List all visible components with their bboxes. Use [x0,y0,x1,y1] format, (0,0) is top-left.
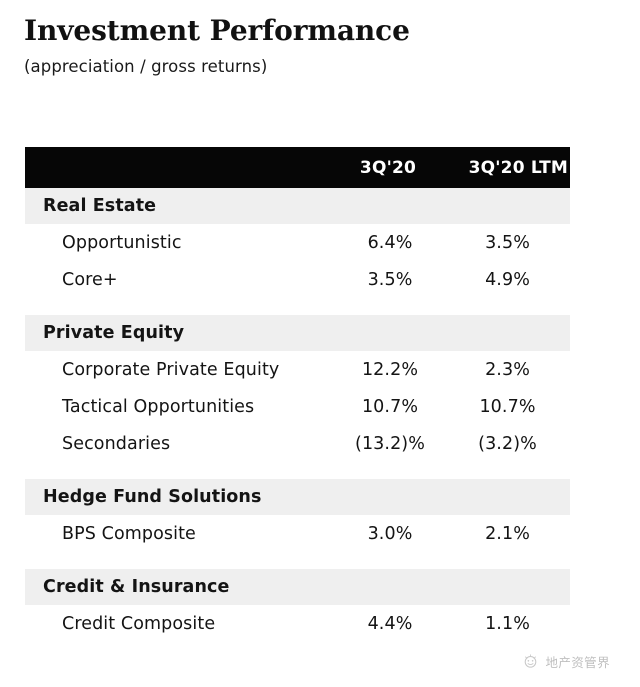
investment-performance-table: 3Q'20 3Q'20 LTM Real Estate Opportunisti… [25,147,570,642]
section-divider [25,462,570,479]
row-value-q: 6.4% [335,233,445,253]
page-subtitle: (appreciation / gross returns) [24,56,584,78]
row-value-q: 3.0% [335,524,445,544]
row-value-ltm: 3.5% [445,233,570,253]
section-header-label: Private Equity [25,323,184,343]
section-header-label: Real Estate [25,196,156,216]
table-row: BPS Composite 3.0% 2.1% [25,515,570,552]
table-row: Opportunistic 6.4% 3.5% [25,224,570,261]
section-divider [25,298,570,315]
section-header: Credit & Insurance [25,569,570,605]
watermark-logo-icon [522,653,539,670]
table-section-real-estate: Real Estate Opportunistic 6.4% 3.5% Core… [25,188,570,298]
row-value-ltm: 2.3% [445,360,570,380]
row-value-ltm: 10.7% [445,397,570,417]
table-row: Credit Composite 4.4% 1.1% [25,605,570,642]
watermark: 地产资管界 [522,652,610,671]
section-header: Private Equity [25,315,570,351]
row-value-q: 10.7% [335,397,445,417]
section-divider [25,552,570,569]
page-title: Investment Performance [24,14,584,48]
row-label: Opportunistic [25,233,335,253]
table-row: Secondaries (13.2)% (3.2)% [25,425,570,462]
section-header: Hedge Fund Solutions [25,479,570,515]
row-label: Credit Composite [25,614,335,634]
heading-block: Investment Performance (appreciation / g… [24,14,584,78]
table-row: Tactical Opportunities 10.7% 10.7% [25,388,570,425]
row-label: Tactical Opportunities [25,397,335,417]
row-value-ltm: (3.2)% [445,434,570,454]
watermark-label: 地产资管界 [545,652,610,671]
row-value-q: 3.5% [335,270,445,290]
table-row: Corporate Private Equity 12.2% 2.3% [25,351,570,388]
table-header-row: 3Q'20 3Q'20 LTM [25,147,570,188]
section-header: Real Estate [25,188,570,224]
table-section-hedge-fund-solutions: Hedge Fund Solutions BPS Composite 3.0% … [25,479,570,552]
row-value-ltm: 2.1% [445,524,570,544]
table-section-credit-insurance: Credit & Insurance Credit Composite 4.4%… [25,569,570,642]
row-label: Secondaries [25,434,335,454]
row-label: Core+ [25,270,335,290]
row-value-ltm: 4.9% [445,270,570,290]
row-value-q: 4.4% [335,614,445,634]
row-label: BPS Composite [25,524,335,544]
column-header-q: 3Q'20 [333,158,443,178]
table-row: Core+ 3.5% 4.9% [25,261,570,298]
row-value-q: (13.2)% [335,434,445,454]
section-header-label: Credit & Insurance [25,577,229,597]
row-value-ltm: 1.1% [445,614,570,634]
column-header-ltm: 3Q'20 LTM [443,158,570,178]
row-value-q: 12.2% [335,360,445,380]
row-label: Corporate Private Equity [25,360,335,380]
investment-performance-page: Investment Performance (appreciation / g… [0,0,640,687]
table-section-private-equity: Private Equity Corporate Private Equity … [25,315,570,462]
section-header-label: Hedge Fund Solutions [25,487,262,507]
